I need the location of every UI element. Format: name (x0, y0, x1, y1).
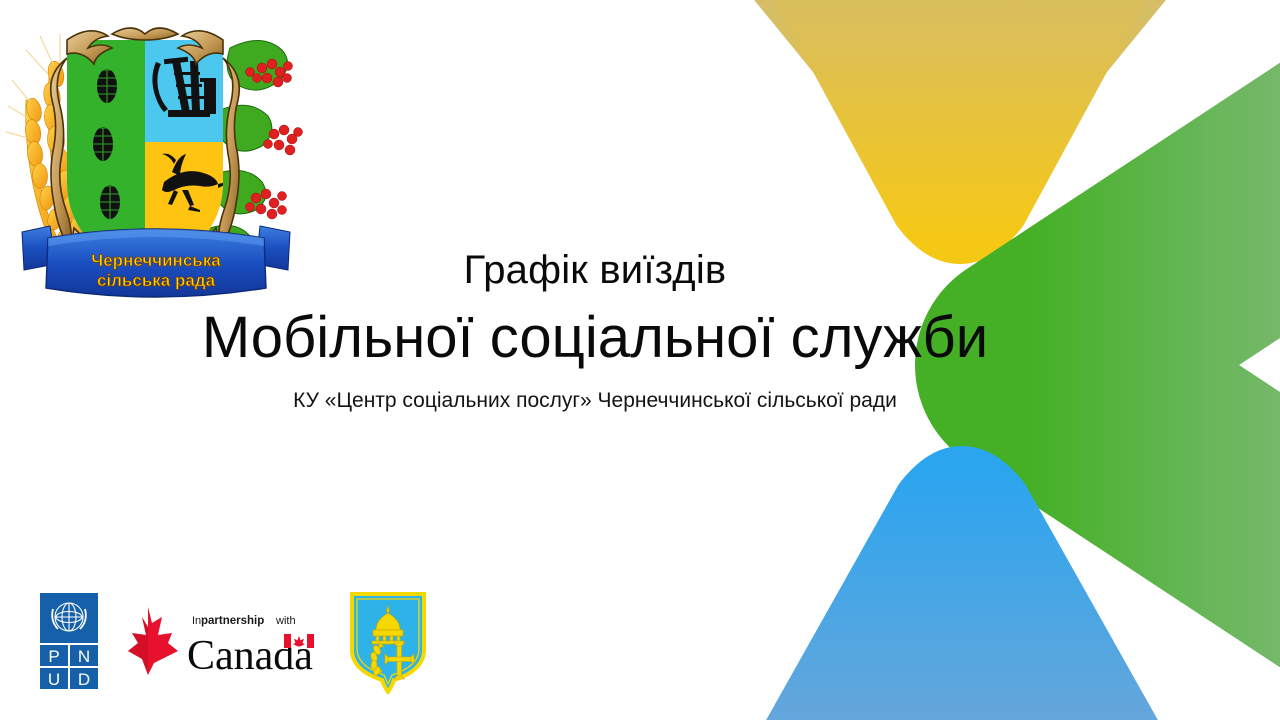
yellow-down-chevron-shape (697, 0, 1230, 236)
undp-letter-u: U (48, 670, 60, 689)
blue-up-chevron-shape (697, 474, 1227, 720)
undp-letter-p: P (48, 647, 59, 666)
slide-title-line-1: Графік виїздів (130, 248, 1060, 292)
undp-letter-n: N (78, 647, 90, 666)
presentation-slide: Чернеччинська сільська рада Графік виїзд… (0, 0, 1280, 720)
canada-tagline-in: In (192, 615, 201, 627)
canada-flag-icon (284, 634, 314, 648)
slide-subtitle: КУ «Центр соціальних послуг» Чернеччинсь… (130, 388, 1060, 413)
sumy-oblast-logo (346, 588, 430, 694)
partner-logos-strip: P N U D In partnership with Canada (40, 586, 430, 696)
canada-logo: In partnership with Canada (124, 601, 320, 681)
maple-leaf-icon (128, 607, 178, 675)
canada-tagline-partnership: partnership (201, 615, 264, 627)
green-left-chevron-shape (1030, 95, 1280, 635)
slide-title-line-2: Мобільної соціальної служби (130, 306, 1060, 370)
undp-letter-d: D (78, 670, 90, 689)
undp-logo: P N U D (40, 593, 98, 689)
canada-tagline-with: with (275, 615, 296, 627)
title-block: Графік виїздів Мобільної соціальної служ… (130, 248, 1060, 413)
